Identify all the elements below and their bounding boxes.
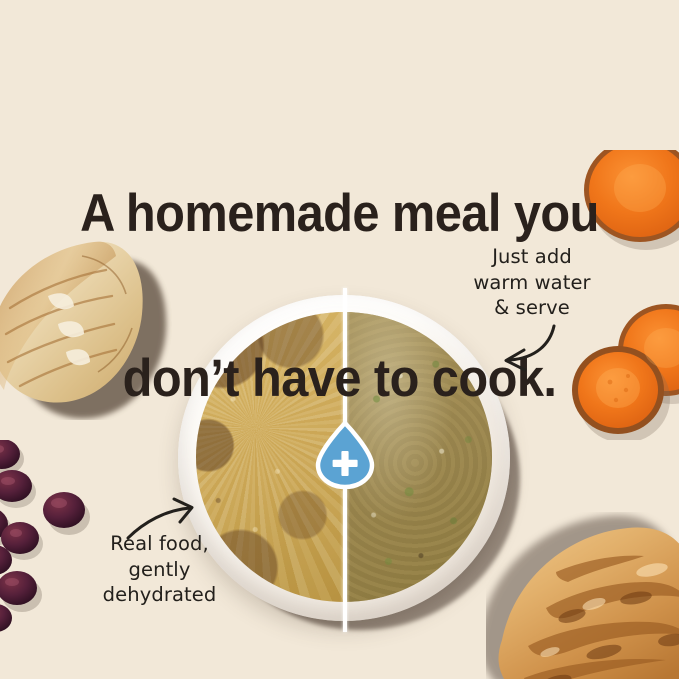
annotation-just-add-warm-water: Just add warm water & serve <box>442 244 622 321</box>
annotation-real-food-gently-dehydrated: Real food, gently dehydrated <box>62 531 257 608</box>
promo-image-canvas: A homemade meal you don’t have to cook. … <box>0 0 679 679</box>
headline-line-2: don’t have to cook. <box>27 351 652 406</box>
headline-line-1: A homemade meal you <box>27 186 652 241</box>
